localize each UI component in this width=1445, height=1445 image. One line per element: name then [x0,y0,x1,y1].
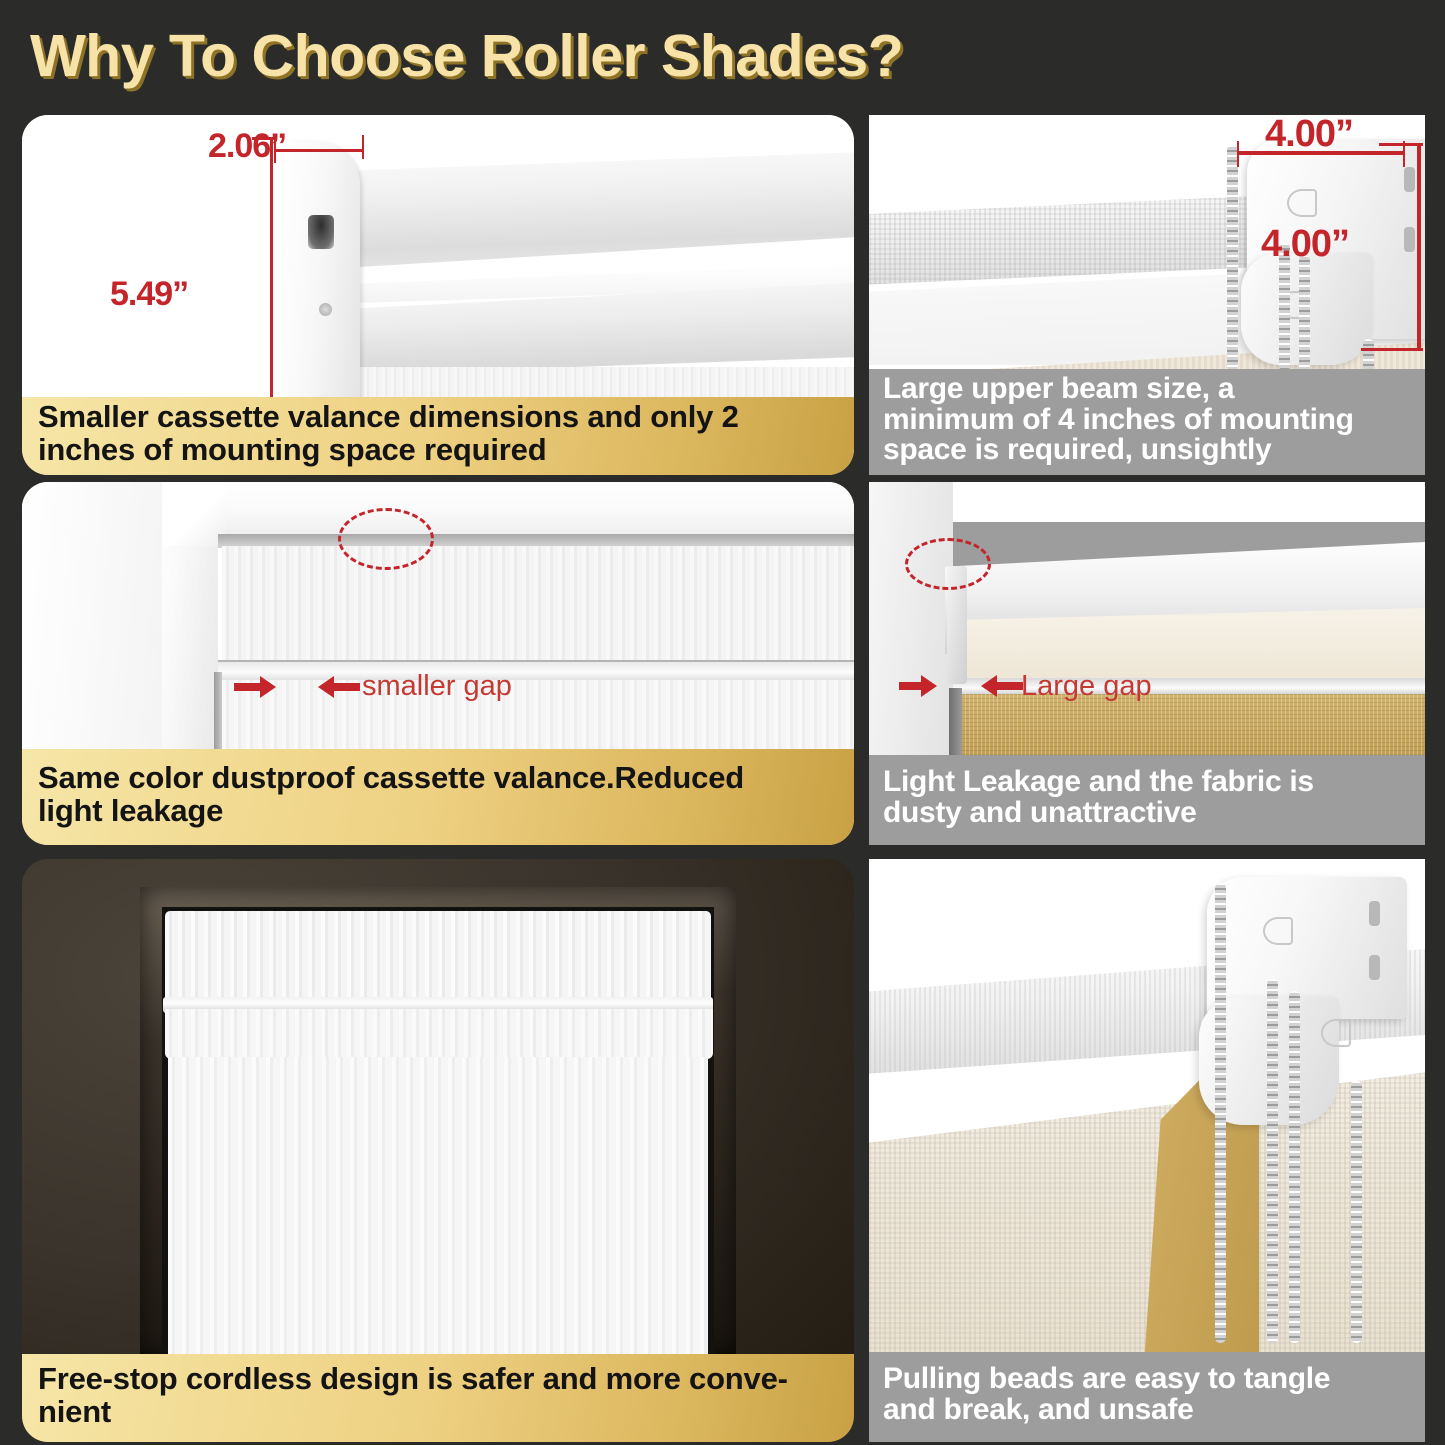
panel-free-stop-cordless: Free-stop cordless design is safer and m… [22,859,854,1442]
caption-line-2: dusty and unattractive [883,798,1314,829]
gap-arrow-left-icon [899,672,951,700]
caption-line-1: Free-stop cordless design is safer and m… [38,1363,788,1396]
panel-2-photo: 4.00” 4.00” [869,115,1425,369]
cassette-valance [165,911,711,1001]
gap-arrow-right-icon [300,672,360,702]
highlight-ellipse-icon [338,508,434,570]
caption-line-1: Light Leakage and the fabric is [883,767,1314,798]
bracket-screw-icon [319,303,332,316]
page-title: Why To Choose Roller Shades? [30,22,903,90]
roller-shade-fabric [168,1057,708,1354]
bead-chain-1[interactable] [1215,883,1226,1343]
bead-chain-4[interactable] [1351,1081,1362,1343]
caption-line-2: nient [38,1396,788,1429]
dim-tick-v-top [252,137,276,140]
dim-label-width: 2.06” [208,127,286,166]
caption-line-1: Pulling beads are easy to tangle [883,1364,1330,1395]
caption-line-2: light leakage [38,795,744,828]
panel-1-photo: 2.06” 5.49” [22,115,854,401]
dim-label-height: 5.49” [110,275,188,314]
caption-line-3: space is required, unsightly [883,435,1354,466]
dim-tick-top-right [362,135,364,159]
panel-5-photo [22,859,854,1354]
caption-panel-2: Large upper beam size, a minimum of 4 in… [869,369,1425,475]
caption-line-2: minimum of 4 inches of mounting [883,405,1354,436]
bead-chain-1 [1227,145,1238,369]
tan-dusty-fabric [961,694,1425,755]
bracket-notch-icon-2 [1404,227,1415,252]
bracket-slot-icon [308,215,334,249]
bracket-notch-icon-2 [1369,955,1380,980]
comparison-grid: 2.06” 5.49” Smaller cassette valance dim… [0,112,1445,1445]
dim-tick-v-top [1379,143,1423,146]
valance-end-bracket [284,141,360,401]
cassette-valance-lower [165,1009,713,1059]
panel-pulling-beads-unsafe: Pulling beads are easy to tangle and bre… [869,859,1425,1442]
bracket-notch-icon-1 [1404,167,1415,192]
bead-chain-3 [1299,255,1310,369]
gap-callout-label: smaller gap [362,670,512,703]
window-frame-corner [162,482,226,546]
gap-callout-label: Large gap [1021,670,1152,703]
panel-6-photo [869,859,1425,1352]
wall-surface [22,482,172,749]
caption-line-1: Same color dustproof cassette valance.Re… [38,762,744,795]
caption-panel-6: Pulling beads are easy to tangle and bre… [869,1352,1425,1442]
title-bar: Why To Choose Roller Shades? [0,0,1445,112]
panel-large-upper-beam: 4.00” 4.00” Large upper beam size, a min… [869,115,1425,475]
bracket-arrow-icon-1 [1263,917,1293,945]
dim-line-height [1417,143,1421,351]
valance-fabric [292,367,854,401]
panel-3-photo: smaller gap [22,482,854,749]
caption-line-1: Smaller cassette valance dimensions and … [38,401,739,434]
valance-top-face [292,151,854,271]
bead-chain-2[interactable] [1267,979,1278,1343]
gap-arrow-left-icon [234,672,294,702]
shade-edge-gap [214,672,222,749]
highlight-ellipse-icon [905,538,991,590]
bracket-arrow-icon-2 [1321,1019,1351,1047]
dim-label-width: 4.00” [1265,115,1353,156]
dim-label-height: 4.00” [1261,223,1349,266]
gap-arrow-right-icon [965,672,1023,700]
panel-light-leakage: Large gap Light Leakage and the fabric i… [869,482,1425,845]
caption-line-2: inches of mounting space required [38,434,739,467]
dim-line-height [270,137,273,401]
caption-panel-1: Smaller cassette valance dimensions and … [22,397,854,475]
wall-surface [869,482,953,755]
panel-4-photo: Large gap [869,482,1425,755]
window-frame-top [162,482,854,538]
caption-panel-4: Light Leakage and the fabric is dusty an… [869,755,1425,845]
bead-chain-4 [1363,339,1374,369]
caption-line-1: Large upper beam size, a [883,374,1354,405]
caption-panel-3: Same color dustproof cassette valance.Re… [22,749,854,845]
dim-tick-v-bottom [1361,348,1423,351]
caption-line-2: and break, and unsafe [883,1395,1330,1426]
dim-line-width [274,149,364,152]
panel-dustproof-cassette-valance: smaller gap Same color dustproof cassett… [22,482,854,845]
bracket-arrow-icon-1 [1287,189,1317,217]
panel-cassette-valance-dimensions: 2.06” 5.49” Smaller cassette valance dim… [22,115,854,475]
bead-chain-3[interactable] [1289,991,1300,1343]
cream-shade-fabric [869,1019,1425,1352]
caption-panel-5: Free-stop cordless design is safer and m… [22,1354,854,1442]
shade-upper-section [222,546,854,666]
bracket-notch-icon-1 [1369,901,1380,926]
